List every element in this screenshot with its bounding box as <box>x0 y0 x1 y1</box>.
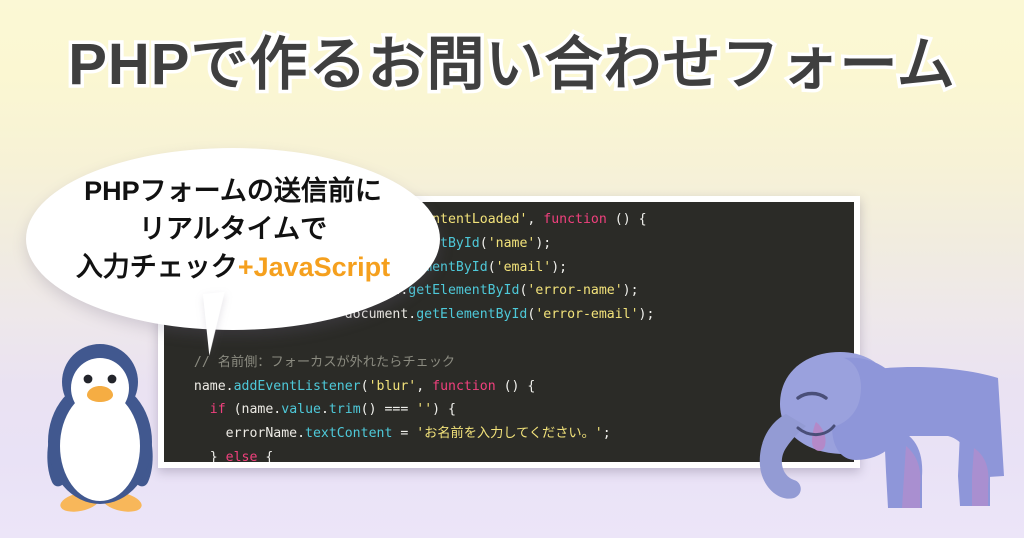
code-line: if (name.value.trim() === '') { <box>178 398 654 422</box>
code-token: value <box>281 402 321 417</box>
code-token: () { <box>496 379 536 394</box>
code-token: name <box>178 379 226 394</box>
bubble-line-3-main: 入力チェック <box>76 252 238 282</box>
bubble-line-3: 入力チェック+JavaScript <box>26 248 440 286</box>
code-token: ); <box>535 236 551 251</box>
poster-canvas: PHPで作るお問い合わせフォーム document.addEventListen… <box>0 0 1024 538</box>
code-token: { <box>257 450 273 462</box>
code-line: // 名前側：フォーカスが外れたらチェック <box>178 351 654 375</box>
code-token: 'email' <box>496 260 552 275</box>
code-token: 'error-name' <box>527 283 622 298</box>
code-token: textContent <box>305 426 392 441</box>
code-token: . <box>226 379 234 394</box>
code-line <box>178 327 654 351</box>
code-line: name.addEventListener('blur', function (… <box>178 375 654 399</box>
code-token: (name <box>226 402 274 417</box>
code-token: else <box>226 450 258 462</box>
code-token: ); <box>551 260 567 275</box>
code-token: function <box>543 212 607 227</box>
code-token: if <box>210 402 226 417</box>
code-token: getElementById <box>416 307 527 322</box>
code-token: } <box>178 450 226 462</box>
code-token: ); <box>639 307 655 322</box>
code-token: 'name' <box>488 236 536 251</box>
code-token: , <box>527 212 543 227</box>
code-token: ( <box>361 379 369 394</box>
code-line: errorName.textContent = 'お名前を入力してください。'; <box>178 422 654 446</box>
bubble-line-1: PHPフォームの送信前に <box>26 172 440 210</box>
code-token: () === <box>361 402 417 417</box>
page-title: PHPで作るお問い合わせフォーム <box>0 30 1024 100</box>
code-token: ); <box>623 283 639 298</box>
elephant-icon <box>736 336 1006 516</box>
code-token: errorName <box>178 426 297 441</box>
code-line: } else { <box>178 446 654 462</box>
code-token: addEventListener <box>234 379 361 394</box>
code-token: // 名前側：フォーカスが外れたらチェック <box>178 355 455 370</box>
bubble-line-2: リアルタイムで <box>26 210 440 248</box>
code-token: . <box>297 426 305 441</box>
code-token: = <box>392 426 416 441</box>
code-token: . <box>321 402 329 417</box>
speech-bubble-tail <box>203 290 245 355</box>
code-token: 'error-email' <box>535 307 638 322</box>
code-token <box>178 402 210 417</box>
code-token: ( <box>488 260 496 275</box>
penguin-icon <box>30 336 170 526</box>
code-token: '' <box>416 402 432 417</box>
speech-bubble-text: PHPフォームの送信前に リアルタイムで 入力チェック+JavaScript <box>26 172 440 286</box>
code-token: function <box>432 379 496 394</box>
code-token: 'blur' <box>369 379 417 394</box>
code-token: trim <box>329 402 361 417</box>
code-token: , <box>416 379 432 394</box>
bubble-line-3-accent: +JavaScript <box>238 252 390 282</box>
code-token: ) { <box>432 402 456 417</box>
code-token: () { <box>607 212 647 227</box>
code-token: ( <box>480 236 488 251</box>
code-token: ; <box>603 426 611 441</box>
code-token: 'お名前を入力してください。' <box>416 426 603 441</box>
